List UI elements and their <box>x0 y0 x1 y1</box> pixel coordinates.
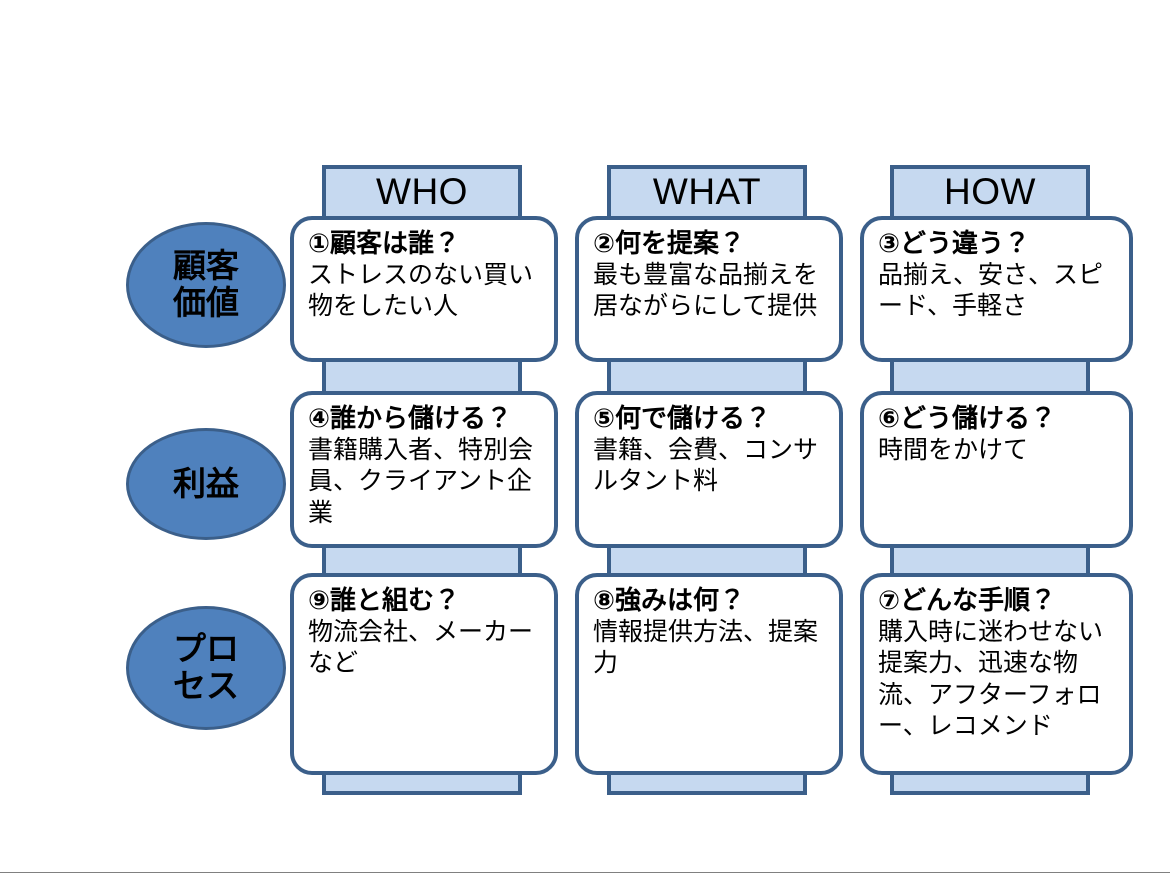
card-8-title: ⑧強みは何？ <box>593 585 827 616</box>
card-3-how-customer-value[interactable]: ③どう違う？ 品揃え、安さ、スピード、手軽さ <box>860 216 1133 362</box>
card-2-body: 最も豊富な品揃えを居ながらにして提供 <box>593 260 827 323</box>
card-5-body: 書籍、会費、コンサルタント料 <box>593 435 827 498</box>
card-3-title: ③どう違う？ <box>878 228 1117 259</box>
footer-divider <box>0 872 1170 873</box>
card-2-title: ②何を提案？ <box>593 228 827 259</box>
card-1-body: ストレスのない買い物をしたい人 <box>308 260 542 323</box>
slide-canvas: WHO WHAT HOW 顧客 価値 利益 プロ セス ①顧客は誰？ ストレスの… <box>0 0 1170 877</box>
row-label-process-line1: プロ <box>173 631 239 668</box>
card-8-body: 情報提供方法、提案力 <box>593 617 827 680</box>
card-7-body: 購入時に迷わせない提案力、迅速な物流、アフターフォロー、レコメンド <box>878 617 1117 742</box>
card-9-title: ⑨誰と組む？ <box>308 585 542 616</box>
card-9-who-process[interactable]: ⑨誰と組む？ 物流会社、メーカーなど <box>290 573 558 775</box>
card-8-what-process[interactable]: ⑧強みは何？ 情報提供方法、提案力 <box>575 573 843 775</box>
card-9-body: 物流会社、メーカーなど <box>308 617 542 680</box>
row-label-profit: 利益 <box>126 428 286 540</box>
row-label-process: プロ セス <box>126 606 286 730</box>
card-1-title: ①顧客は誰？ <box>308 228 542 259</box>
row-label-profit-line1: 利益 <box>173 466 239 503</box>
card-5-title: ⑤何で儲ける？ <box>593 403 827 434</box>
card-4-who-profit[interactable]: ④誰から儲ける？ 書籍購入者、特別会員、クライアント企業 <box>290 391 558 548</box>
card-7-title: ⑦どんな手順？ <box>878 585 1117 616</box>
card-4-title: ④誰から儲ける？ <box>308 403 542 434</box>
card-7-how-process[interactable]: ⑦どんな手順？ 購入時に迷わせない提案力、迅速な物流、アフターフォロー、レコメン… <box>860 573 1133 775</box>
card-4-body: 書籍購入者、特別会員、クライアント企業 <box>308 435 542 529</box>
row-label-customer-value-line1: 顧客 <box>173 248 239 285</box>
card-1-who-customer-value[interactable]: ①顧客は誰？ ストレスのない買い物をしたい人 <box>290 216 558 362</box>
row-label-process-line2: セス <box>173 668 239 705</box>
card-2-what-customer-value[interactable]: ②何を提案？ 最も豊富な品揃えを居ながらにして提供 <box>575 216 843 362</box>
card-6-body: 時間をかけて <box>878 435 1117 466</box>
card-5-what-profit[interactable]: ⑤何で儲ける？ 書籍、会費、コンサルタント料 <box>575 391 843 548</box>
card-6-how-profit[interactable]: ⑥どう儲ける？ 時間をかけて <box>860 391 1133 548</box>
row-label-customer-value-line2: 価値 <box>173 285 239 322</box>
row-label-customer-value: 顧客 価値 <box>126 222 286 348</box>
card-3-body: 品揃え、安さ、スピード、手軽さ <box>878 260 1117 323</box>
card-6-title: ⑥どう儲ける？ <box>878 403 1117 434</box>
